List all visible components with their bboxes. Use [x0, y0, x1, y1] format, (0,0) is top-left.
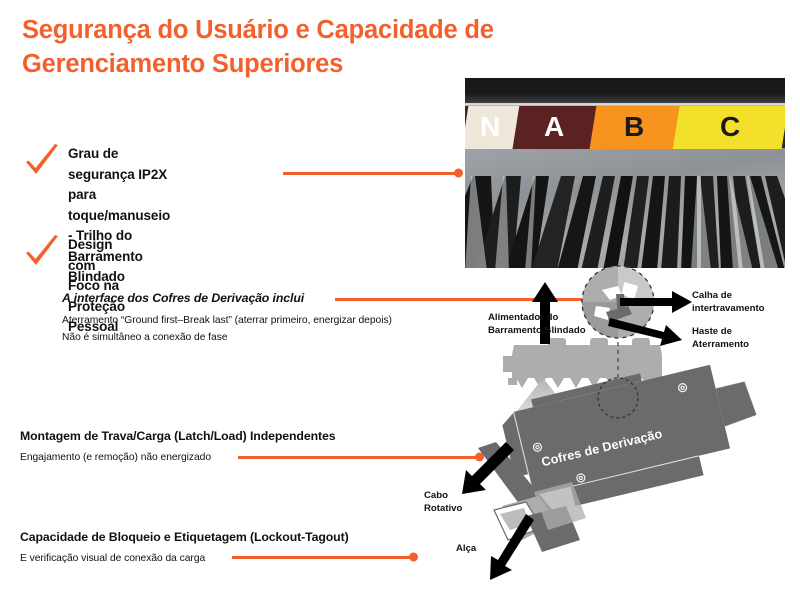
page-title-line-2: Gerenciamento Superiores [22, 48, 522, 82]
busway-phase-labels-photo: N A B C [465, 78, 785, 268]
page-title: Segurança do Usuário e Capacidade de Ger… [22, 14, 522, 82]
phase-letter-B: B [624, 113, 644, 141]
phase-label-strip: N A B C [465, 106, 785, 149]
phase-label-B: B [590, 106, 680, 149]
leader-line-lockout-tagout [232, 556, 414, 559]
lockout-tagout-text-block: Capacidade de Bloqueio e Etiquetagem (Lo… [20, 528, 420, 568]
ground-rod-label: Haste de Aterramento [692, 326, 749, 352]
leader-line-ip2x [283, 172, 459, 175]
handle-label: Alça [456, 543, 476, 556]
slide-root: Segurança do Usuário e Capacidade de Ger… [0, 0, 800, 600]
interlock-label: Calha de intertravamento [692, 290, 765, 316]
latch-load-text-block: Montagem de Trava/Carga (Latch/Load) Ind… [20, 427, 420, 467]
phase-letter-A: A [544, 113, 564, 141]
latch-load-sub: Engajamento (e remoção) não energizado [20, 450, 420, 467]
phase-label-A: A [513, 106, 597, 149]
phase-label-C: C [673, 106, 785, 149]
lockout-tagout-heading: Capacidade de Bloqueio e Etiquetagem (Lo… [20, 528, 420, 546]
busbar-blades [465, 146, 785, 268]
phase-letter-N: N [480, 113, 500, 141]
lockout-tagout-sub: E verificação visual de conexão da carga [20, 551, 420, 568]
check-icon [22, 141, 62, 181]
latch-load-heading: Montagem de Trava/Carga (Latch/Load) Ind… [20, 427, 420, 445]
check-icon [22, 232, 62, 272]
page-title-line-1: Segurança do Usuário e Capacidade de [22, 14, 522, 48]
rotary-cable-label: Cabo Rotativo [424, 490, 462, 516]
phase-label-N: N [465, 106, 520, 149]
photo-background-wall [465, 78, 785, 106]
interface-line-2: Não é simultâneo a conexão de fase [62, 330, 462, 347]
phase-letter-C: C [720, 113, 740, 141]
feeder-label: Alimentador do Barramento Blindado [488, 312, 586, 338]
interface-line-1: Aterramento “Ground first–Break last” (a… [62, 313, 462, 330]
